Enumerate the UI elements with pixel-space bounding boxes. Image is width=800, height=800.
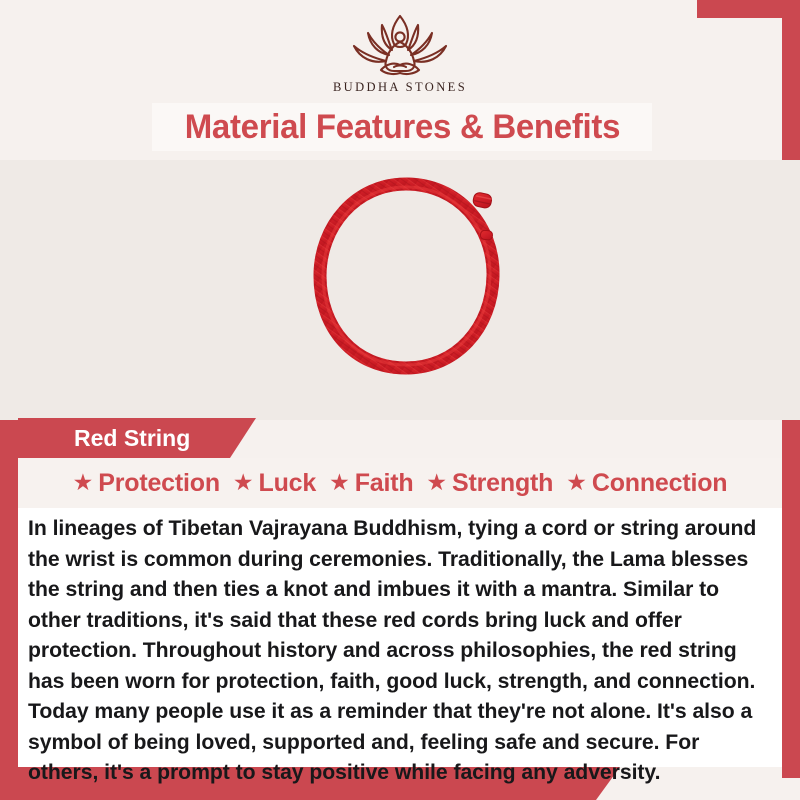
- benefit-label: Strength: [452, 469, 553, 498]
- page-title: Material Features & Benefits: [184, 108, 619, 147]
- product-photo: [0, 160, 800, 420]
- star-icon: ★: [426, 471, 447, 494]
- title-panel: Material Features & Benefits: [152, 103, 652, 151]
- lotus-meditation-icon: [348, 12, 452, 78]
- benefit-item: ★ Protection: [73, 469, 220, 498]
- brand-name: BUDDHA STONES: [0, 80, 800, 95]
- benefit-item: ★ Connection: [566, 469, 727, 498]
- benefit-label: Faith: [355, 469, 414, 498]
- benefits-row: ★ Protection ★ Luck ★ Faith ★ Strength ★…: [18, 458, 782, 508]
- star-icon: ★: [329, 471, 350, 494]
- star-icon: ★: [233, 471, 254, 494]
- material-ribbon: Red String: [18, 418, 256, 458]
- benefit-label: Protection: [98, 469, 220, 498]
- description-text: In lineages of Tibetan Vajrayana Buddhis…: [28, 514, 760, 789]
- red-string-bracelet-image: [272, 160, 540, 420]
- benefit-label: Connection: [592, 469, 728, 498]
- benefit-item: ★ Luck: [233, 469, 316, 498]
- benefit-label: Luck: [259, 469, 317, 498]
- brand-logo: BUDDHA STONES: [0, 12, 800, 95]
- star-icon: ★: [73, 471, 94, 494]
- benefit-item: ★ Strength: [426, 469, 553, 498]
- decorative-band-left-lower: [0, 419, 18, 782]
- benefit-item: ★ Faith: [329, 469, 413, 498]
- material-name: Red String: [74, 425, 190, 452]
- star-icon: ★: [566, 471, 587, 494]
- infographic-canvas: BUDDHA STONES Material Features & Benefi…: [0, 0, 800, 800]
- description-panel: In lineages of Tibetan Vajrayana Buddhis…: [18, 508, 782, 767]
